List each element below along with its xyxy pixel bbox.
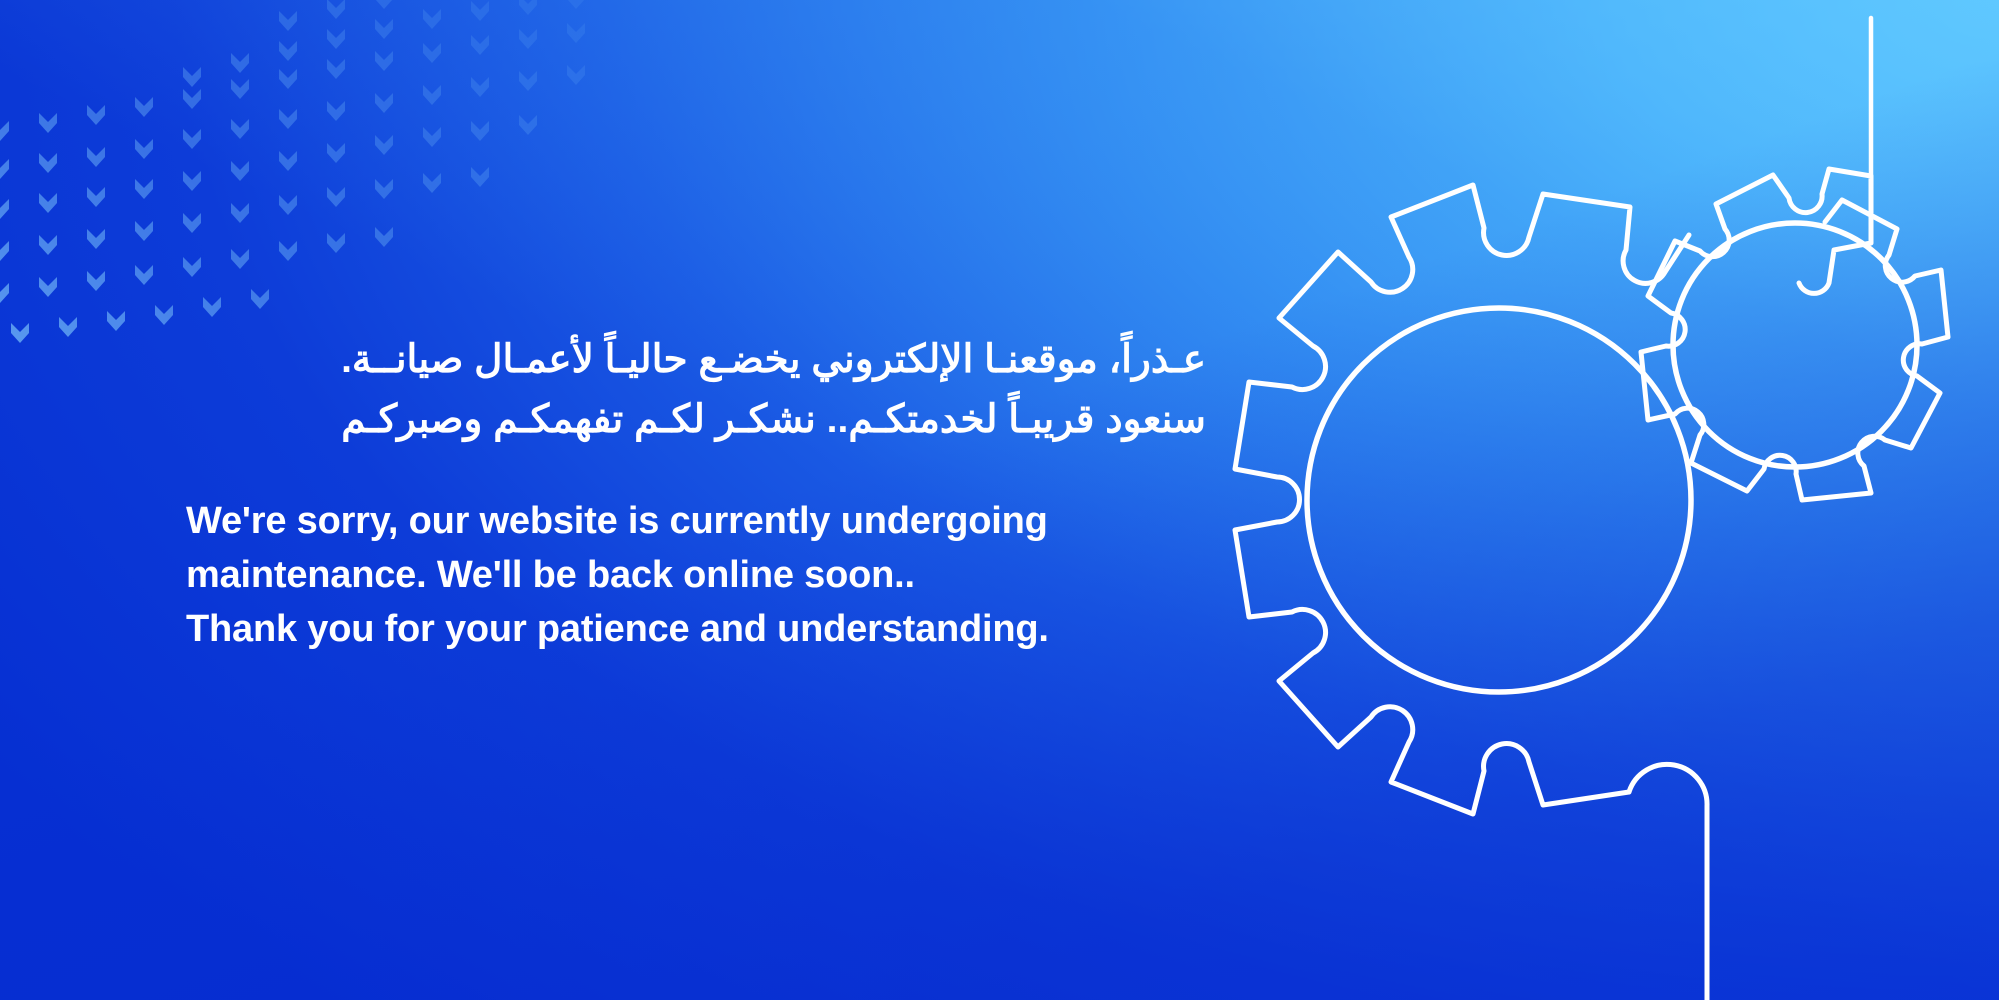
english-line-2: maintenance. We'll be back online soon.. [186,549,1206,603]
arabic-line-2: سنعود قريبـاً لخدمتكـم.. نشكـر لكـم تفهم… [186,390,1206,450]
gear-illustration [1099,0,1999,1000]
maintenance-message: عـذراً، موقعنـا الإلكتروني يخضـع حاليـاً… [186,330,1206,657]
maintenance-page: عـذراً، موقعنـا الإلكتروني يخضـع حاليـاً… [0,0,1999,1000]
english-message: We're sorry, our website is currently un… [186,495,1206,657]
english-line-3: Thank you for your patience and understa… [186,603,1206,657]
arabic-line-1: عـذراً، موقعنـا الإلكتروني يخضـع حاليـاً… [186,330,1206,390]
large-gear [1235,185,1707,1000]
small-gear [1641,18,1948,500]
english-line-1: We're sorry, our website is currently un… [186,495,1206,549]
arabic-message: عـذراً، موقعنـا الإلكتروني يخضـع حاليـاً… [186,330,1206,451]
